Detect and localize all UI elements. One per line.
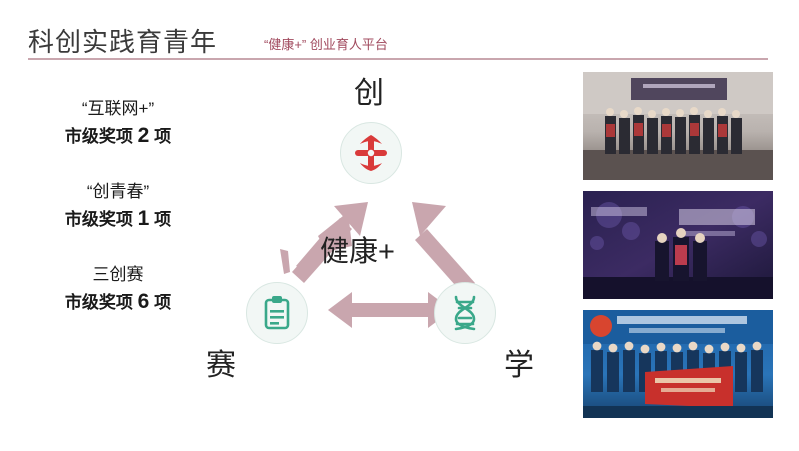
stat-prefix: 市级奖项 [65, 210, 133, 229]
photo-column: 颁奖典礼合影 [583, 72, 773, 429]
medical-caduceus-icon [341, 123, 401, 183]
team-group-banner-photo: 2018年“挑战杯”上海大学生创业计划大赛 [583, 310, 773, 418]
diagram-node-right[interactable] [434, 282, 496, 344]
stats-list: “互联网+” 市级奖项 2 项 “创青春” 市级奖项 1 项 三创赛 市级奖项 … [18, 96, 218, 345]
stat-prefix: 市级奖项 [65, 293, 133, 312]
stat-title: “创青春” [18, 179, 218, 205]
stat-item-san-chuang-sai: 三创赛 市级奖项 6 项 [18, 262, 218, 317]
diagram-node-top[interactable] [340, 122, 402, 184]
stat-title: “互联网+” [18, 96, 218, 122]
stat-item-internet-plus: “互联网+” 市级奖项 2 项 [18, 96, 218, 151]
diagram-label-top: 创 [354, 68, 384, 112]
diagram-node-left[interactable] [246, 282, 308, 344]
stat-count: 6 [138, 290, 150, 313]
diagram-label-left: 赛 [206, 340, 236, 384]
page-title: 科创实践育青年 [28, 22, 217, 59]
stat-item-chuang-qing-chun: “创青春” 市级奖项 1 项 [18, 179, 218, 234]
stat-value-row: 市级奖项 1 项 [18, 205, 218, 234]
stat-suffix: 项 [154, 127, 171, 146]
diagram-label-right: 学 [504, 340, 534, 384]
dna-icon [435, 283, 495, 343]
clipboard-icon [247, 283, 307, 343]
stat-title: 三创赛 [18, 262, 218, 288]
stat-count: 1 [138, 207, 150, 230]
stat-value-row: 市级奖项 2 项 [18, 122, 218, 151]
stat-count: 2 [138, 124, 150, 147]
stat-value-row: 市级奖项 6 项 [18, 288, 218, 317]
award-ceremony-stage-photo: 颁奖典礼合影 [583, 72, 773, 180]
page-subtitle: “健康+” 创业育人平台 [264, 34, 388, 53]
innovation-competition-photo: 创新创业大赛 [583, 191, 773, 299]
stat-prefix: 市级奖项 [65, 127, 133, 146]
stat-suffix: 项 [154, 293, 171, 312]
stat-suffix: 项 [154, 210, 171, 229]
triangle-diagram: 创 赛 学 健康+ [200, 60, 580, 400]
diagram-center-label: 健康+ [320, 228, 395, 270]
